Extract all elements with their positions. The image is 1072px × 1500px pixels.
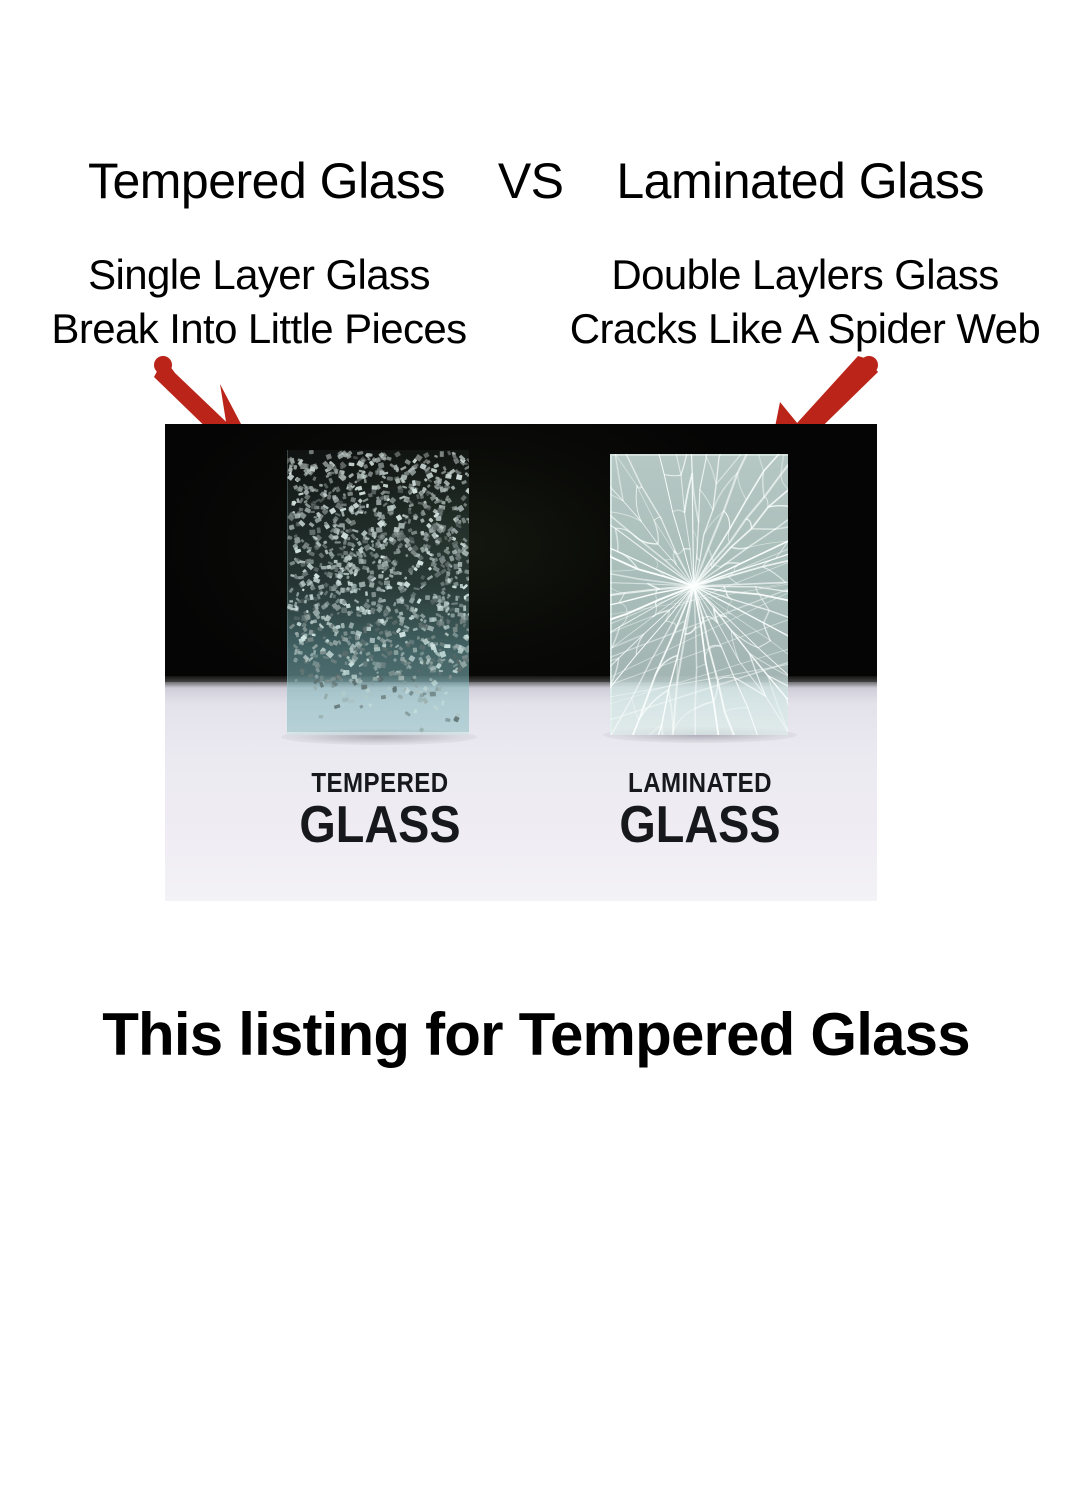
tempered-description-line-1: Single Layer Glass [0,248,524,302]
laminated-spider-web-cracks [610,454,788,735]
photo-caption-laminated: LAMINATED GLASS [545,768,855,852]
tempered-fragments [287,450,469,735]
tempered-description-line-2: Break Into Little Pieces [0,302,524,356]
photo-caption-tempered: TEMPERED GLASS [225,768,535,852]
tempered-description-column: Single Layer Glass Break Into Little Pie… [0,248,524,368]
photo-caption-laminated-small: LAMINATED [567,768,834,798]
title-versus: VS [498,153,564,209]
laminated-description-column: Double Laylers Glass Cracks Like A Spide… [536,248,1072,368]
page-title: Tempered Glass VS Laminated Glass [0,152,1072,210]
laminated-description-line-1: Double Laylers Glass [536,248,1072,302]
photo-caption-tempered-big: GLASS [241,798,520,852]
title-tempered-glass: Tempered Glass [88,153,445,209]
photo-caption-laminated-big: GLASS [561,798,840,852]
comparison-photo: TEMPERED GLASS LAMINATED GLASS [165,424,877,901]
laminated-glass-panel [610,454,788,735]
tempered-glass-panel [287,450,469,735]
laminated-description-line-2: Cracks Like A Spider Web [536,302,1072,356]
comparison-descriptions: Single Layer Glass Break Into Little Pie… [0,248,1072,368]
title-laminated-glass: Laminated Glass [616,153,984,209]
listing-note: This listing for Tempered Glass [0,1000,1072,1070]
photo-caption-tempered-small: TEMPERED [247,768,514,798]
